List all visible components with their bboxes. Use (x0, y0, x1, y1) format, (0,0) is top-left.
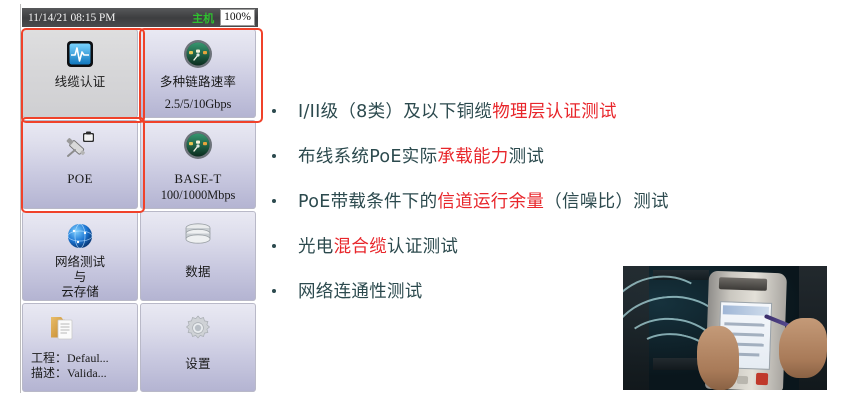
tile-label-network-test-line1: 网络测试 (55, 255, 105, 270)
tile-label-data: 数据 (185, 265, 210, 280)
tile-label-network-test-line2: 与 (74, 270, 87, 285)
speedometer-icon (183, 37, 213, 71)
photo-tester-keypad (719, 277, 767, 291)
bullet-text-3: PoE带载条件下的信道运行余量（信噪比）测试 (298, 188, 669, 213)
photo-tester-button (737, 376, 748, 384)
bullet-2-segment-1: 承载能力 (437, 147, 508, 167)
bullet-text-5: 网络连通性测试 (298, 278, 423, 303)
tile-label-base-t: BASE-T (174, 171, 221, 187)
bullet-3-segment-1: 信道运行余量 (437, 192, 544, 212)
photo-screen-header (723, 305, 769, 316)
photo-hand-left (697, 326, 739, 390)
tile-base-t[interactable]: BASE-T 100/1000Mbps (140, 120, 256, 209)
tile-multi-link-speed[interactable]: 多种链路速率 2.5/5/10Gbps (140, 29, 256, 118)
tile-poe[interactable]: POE (22, 120, 138, 209)
device-status-bar: 11/14/21 08:15 PM 主机 100% (22, 8, 258, 27)
status-host-label: 主机 (192, 10, 214, 26)
gear-icon (183, 311, 213, 345)
tile-label-network-test-line3: 云存储 (61, 285, 99, 300)
photo-tester-test-button (756, 373, 768, 385)
device-tile-grid: 线缆认证 (22, 29, 258, 390)
globe-icon (65, 219, 95, 253)
bullet-text-1: I/II级（8类）及以下铜缆物理层认证测试 (298, 98, 617, 123)
field-photo (623, 266, 827, 390)
bullet-5-segment-0: 网络连通性测试 (298, 282, 423, 302)
bullet-dot-icon (272, 109, 276, 113)
tile-label-cable-certification: 线缆认证 (55, 75, 106, 90)
device-screen-panel: 11/14/21 08:15 PM 主机 100% (20, 4, 258, 393)
tile-label-project-line1: 工程：Defaul... (23, 351, 109, 366)
tile-label-settings: 设置 (185, 357, 210, 372)
database-icon (181, 219, 215, 253)
tile-project[interactable]: 工程：Defaul... 描述：Valida... (22, 303, 138, 392)
tile-label-poe: POE (67, 171, 92, 187)
list-item: 布线系统PoE实际承载能力测试 (272, 143, 772, 188)
bullet-dot-icon (272, 154, 276, 158)
bullet-3-segment-2: （信噪比）测试 (544, 192, 669, 212)
bullet-1-segment-0: I/II级（8类）及以下铜缆 (298, 102, 492, 122)
tile-label-multi-link-speed: 多种链路速率 (160, 75, 236, 90)
tile-data[interactable]: 数据 (140, 211, 256, 301)
tile-sub-base-t: 100/1000Mbps (141, 188, 255, 203)
tile-sub-multi-link-speed: 2.5/5/10Gbps (141, 97, 255, 112)
bullet-2-segment-2: 测试 (509, 147, 545, 167)
tile-cable-certification[interactable]: 线缆认证 (22, 29, 138, 118)
bullet-1-segment-1: 物理层认证测试 (492, 102, 617, 122)
bullet-2-segment-0: 布线系统PoE实际 (298, 147, 437, 167)
photo-screen-row (724, 322, 764, 326)
status-clock: 11/14/21 08:15 PM (28, 12, 115, 24)
bullet-text-2: 布线系统PoE实际承载能力测试 (298, 143, 544, 168)
rj45-plug-icon (63, 128, 97, 162)
bullet-dot-icon (272, 289, 276, 293)
bullet-dot-icon (272, 199, 276, 203)
tile-label-project-line2: 描述：Valida... (23, 366, 107, 381)
bullet-3-segment-0: PoE带载条件下的 (298, 192, 437, 212)
bullet-4-segment-1: 混合缆 (334, 237, 387, 257)
tile-network-test-cloud[interactable]: 网络测试 与 云存储 (22, 211, 138, 301)
list-item: PoE带载条件下的信道运行余量（信噪比）测试 (272, 188, 772, 233)
list-item: I/II级（8类）及以下铜缆物理层认证测试 (272, 98, 772, 143)
bullet-4-segment-2: 认证测试 (387, 237, 458, 257)
bullet-text-4: 光电混合缆认证测试 (298, 233, 458, 258)
bullet-dot-icon (272, 244, 276, 248)
bullet-4-segment-0: 光电 (298, 237, 334, 257)
tile-settings[interactable]: 设置 (140, 303, 256, 392)
status-battery-badge: 100% (220, 9, 255, 26)
photo-hand-right (779, 318, 827, 378)
document-folder-icon (48, 311, 78, 345)
speedometer-icon (183, 128, 213, 162)
waveform-icon (66, 37, 94, 71)
